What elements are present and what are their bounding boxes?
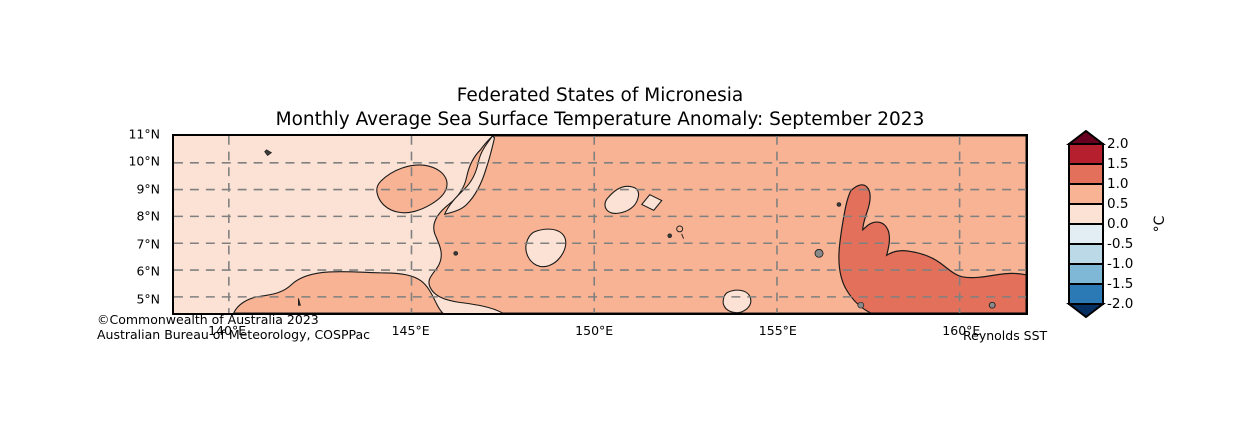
colorbar-band-1.5-2.0 — [1069, 144, 1103, 164]
colorbar-band-neg1.0-neg0.5 — [1069, 244, 1103, 264]
copyright-credit: ©Commonwealth of Australia 2023 Australi… — [97, 312, 370, 343]
cbtick-neg1.0: -1.0 — [1107, 256, 1133, 272]
colorbar-band-0.0-0.5 — [1069, 204, 1103, 224]
ytick-5N: 5°N — [136, 291, 160, 306]
islet-dark-j — [858, 302, 864, 308]
colorbar-tick-labels: 2.0 1.5 1.0 0.5 0.0 -0.5 -1.0 -1.5 -2.0 — [1107, 131, 1153, 317]
ytick-6N: 6°N — [136, 264, 160, 279]
colorbar-under-arrow — [1069, 304, 1103, 317]
chart-title: Federated States of Micronesia Monthly A… — [0, 84, 1200, 131]
enclave-0.0-0.5-c — [723, 290, 751, 312]
colorbar-unit-label: °C — [1152, 216, 1168, 233]
ytick-11N: 11°N — [128, 127, 160, 142]
islet-dark-b — [989, 302, 995, 308]
ytick-9N: 9°N — [136, 181, 160, 196]
islet-dark-g — [837, 202, 841, 206]
copyright-line-2: Australian Bureau of Meteorology, COSPPa… — [97, 327, 370, 342]
colorbar-swatches — [1069, 131, 1103, 317]
islet-dark-h — [454, 251, 458, 255]
colorbar-band-neg1.5-neg1.0 — [1069, 264, 1103, 284]
map-plot-area — [172, 134, 1028, 315]
cbtick-neg2.0: -2.0 — [1107, 296, 1133, 312]
cbtick-0.0: 0.0 — [1107, 216, 1128, 232]
cbtick-2.0: 2.0 — [1107, 136, 1128, 152]
cbtick-neg1.5: -1.5 — [1107, 276, 1133, 292]
title-line-2: Monthly Average Sea Surface Temperature … — [0, 108, 1200, 132]
colorbar-band-0.5-1.0 — [1069, 184, 1103, 204]
xtick-155E: 155°E — [759, 323, 797, 338]
colorbar-band-neg2.0-neg1.5 — [1069, 284, 1103, 304]
islet-dark-a — [815, 249, 823, 257]
xtick-150E: 150°E — [575, 323, 613, 338]
xtick-145E: 145°E — [392, 323, 430, 338]
ytick-8N: 8°N — [136, 209, 160, 224]
title-line-1: Federated States of Micronesia — [0, 84, 1200, 108]
cbtick-1.0: 1.0 — [1107, 176, 1128, 192]
sst-anomaly-map — [174, 136, 1026, 313]
cbtick-0.5: 0.5 — [1107, 196, 1128, 212]
cbtick-neg0.5: -0.5 — [1107, 236, 1133, 252]
colorbar-band-1.0-1.5 — [1069, 164, 1103, 184]
colorbar — [1069, 131, 1103, 317]
cbtick-1.5: 1.5 — [1107, 156, 1128, 172]
islet-dark-d — [668, 234, 672, 238]
ytick-7N: 7°N — [136, 236, 160, 251]
ytick-10N: 10°N — [128, 154, 160, 169]
copyright-line-1: ©Commonwealth of Australia 2023 — [97, 312, 370, 327]
colorbar-band-neg0.5-0.0 — [1069, 224, 1103, 244]
latitude-axis-labels: 11°N 10°N 9°N 8°N 7°N 6°N 5°N — [0, 134, 166, 315]
dataset-credit: Reynolds SST — [963, 328, 1047, 343]
colorbar-over-arrow — [1069, 131, 1103, 144]
figure-canvas: Federated States of Micronesia Monthly A… — [0, 0, 1258, 447]
